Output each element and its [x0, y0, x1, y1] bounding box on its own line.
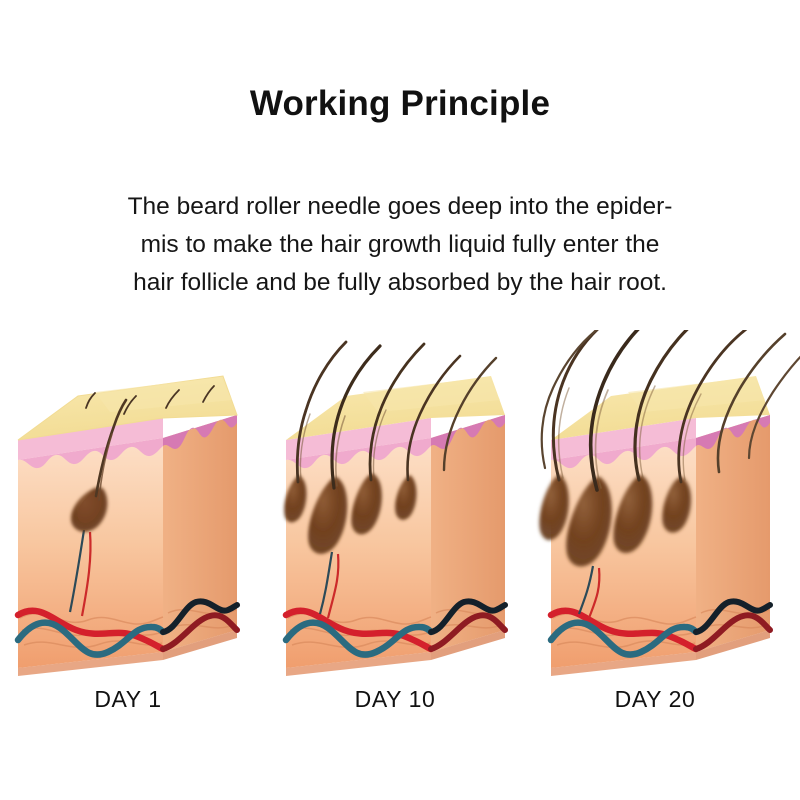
description-line-2: mis to make the hair growth liquid fully… [100, 226, 700, 264]
skin-block-day-1 [0, 330, 270, 680]
day-label-1: DAY 1 [28, 686, 228, 713]
skin-block-day-10 [268, 330, 538, 680]
day-label-20: DAY 20 [555, 686, 755, 713]
description-line-1: The beard roller needle goes deep into t… [100, 188, 700, 226]
working-principle-infographic: Working Principle The beard roller needl… [0, 0, 800, 800]
day-label-10: DAY 10 [295, 686, 495, 713]
skin-block-day-20 [533, 330, 800, 680]
description-line-3: hair follicle and be fully absorbed by t… [100, 264, 700, 302]
description-text: The beard roller needle goes deep into t… [100, 188, 700, 302]
page-title: Working Principle [0, 84, 800, 124]
